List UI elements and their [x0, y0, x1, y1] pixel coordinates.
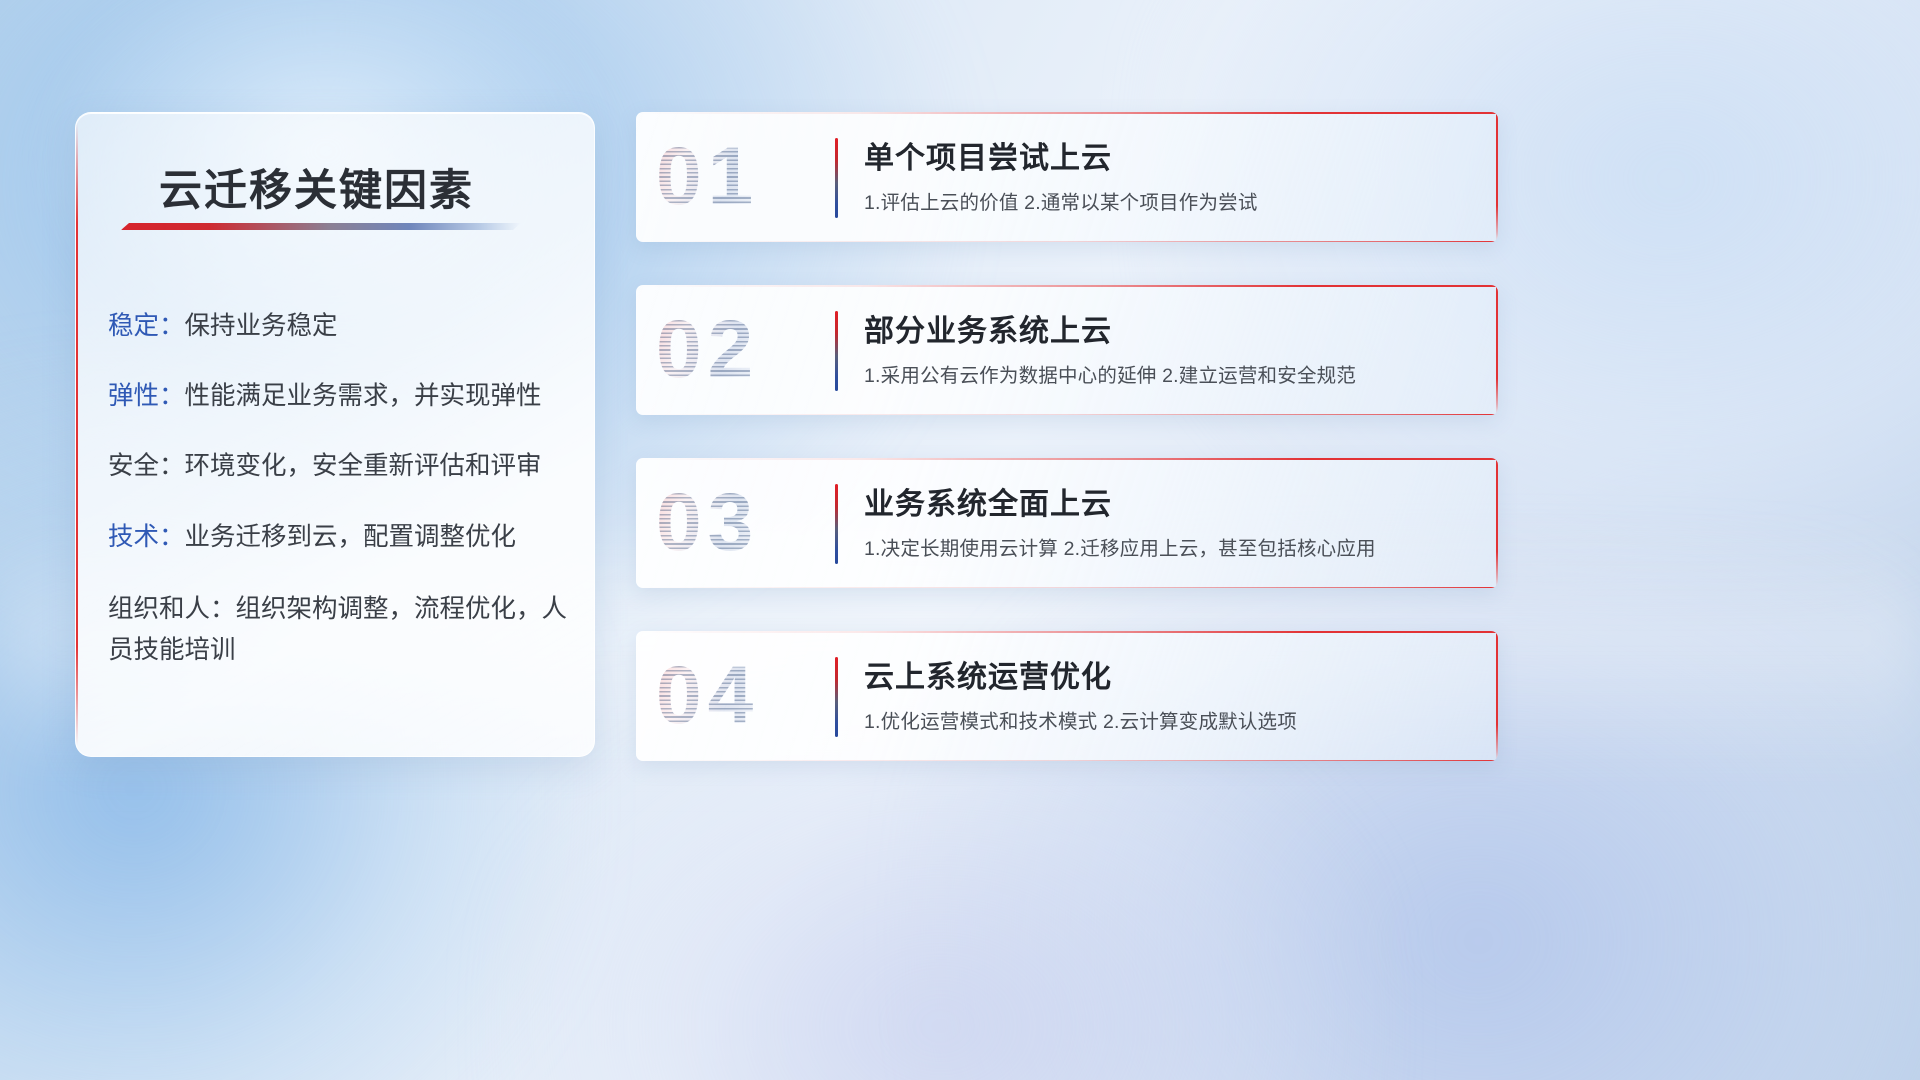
- key-factors-list: 稳定：保持业务稳定 弹性：性能满足业务需求，并实现弹性 安全：环境变化，安全重新…: [108, 308, 570, 705]
- stage-card-03[interactable]: 03 03 业务系统全面上云 1.决定长期使用云计算 2.迁移应用上云，甚至包括…: [636, 458, 1498, 588]
- card-number-tint: 04: [656, 649, 759, 743]
- card-bottom-accent: [636, 760, 1498, 761]
- card-bottom-accent: [636, 241, 1498, 242]
- stage-cards-list: 01 01 单个项目尝试上云 1.评估上云的价值 2.通常以某个项目作为尝试 0…: [636, 112, 1498, 804]
- card-bottom-accent: [636, 414, 1498, 415]
- card-divider-accent: [835, 311, 838, 391]
- card-title: 业务系统全面上云: [864, 479, 1112, 523]
- card-number-tint: 01: [656, 130, 759, 224]
- card-title: 单个项目尝试上云: [864, 133, 1112, 177]
- stage-card-01[interactable]: 01 01 单个项目尝试上云 1.评估上云的价值 2.通常以某个项目作为尝试: [636, 112, 1498, 242]
- list-item-text: 业务迁移到云，配置调整优化: [185, 523, 517, 551]
- list-item-text: 环境变化，安全重新评估和评审: [185, 452, 542, 480]
- list-item-text: 性能满足业务需求，并实现弹性: [185, 382, 542, 410]
- card-divider-accent: [835, 657, 838, 737]
- stage-card-02[interactable]: 02 02 部分业务系统上云 1.采用公有云作为数据中心的延伸 2.建立运营和安…: [636, 285, 1498, 415]
- page-title: 云迁移关键因素: [159, 156, 474, 218]
- card-number-tint: 02: [656, 303, 759, 397]
- list-item-text: 保持业务稳定: [185, 312, 338, 340]
- card-description: 1.评估上云的价值 2.通常以某个项目作为尝试: [864, 186, 1258, 215]
- card-title: 云上系统运营优化: [864, 652, 1112, 696]
- card-number-tint: 03: [656, 476, 759, 570]
- title-underline-accent: [121, 223, 521, 230]
- list-item-key: 组织和人：: [108, 595, 236, 623]
- stage-card-04[interactable]: 04 04 云上系统运营优化 1.优化运营模式和技术模式 2.云计算变成默认选项: [636, 631, 1498, 761]
- slide-stage: 云迁移关键因素 稳定：保持业务稳定 弹性：性能满足业务需求，并实现弹性 安全：环…: [0, 0, 1920, 1080]
- list-item: 组织和人：组织架构调整，流程优化，人员技能培训: [108, 589, 570, 672]
- list-item-key: 弹性：: [108, 382, 185, 410]
- key-factors-panel: 云迁移关键因素 稳定：保持业务稳定 弹性：性能满足业务需求，并实现弹性 安全：环…: [75, 112, 595, 757]
- card-divider-accent: [835, 484, 838, 564]
- list-item: 技术：业务迁移到云，配置调整优化: [108, 519, 570, 555]
- list-item-key: 稳定：: [108, 312, 185, 340]
- card-description: 1.决定长期使用云计算 2.迁移应用上云，甚至包括核心应用: [864, 532, 1376, 561]
- list-item: 弹性：性能满足业务需求，并实现弹性: [108, 378, 570, 414]
- card-description: 1.优化运营模式和技术模式 2.云计算变成默认选项: [864, 705, 1297, 734]
- list-item: 安全：环境变化，安全重新评估和评审: [108, 448, 570, 484]
- list-item: 稳定：保持业务稳定: [108, 308, 570, 344]
- list-item-key: 技术：: [108, 523, 185, 551]
- list-item-key: 安全：: [108, 452, 185, 480]
- card-divider-accent: [835, 138, 838, 218]
- card-title: 部分业务系统上云: [864, 306, 1112, 350]
- card-bottom-accent: [636, 587, 1498, 588]
- card-description: 1.采用公有云作为数据中心的延伸 2.建立运营和安全规范: [864, 359, 1356, 388]
